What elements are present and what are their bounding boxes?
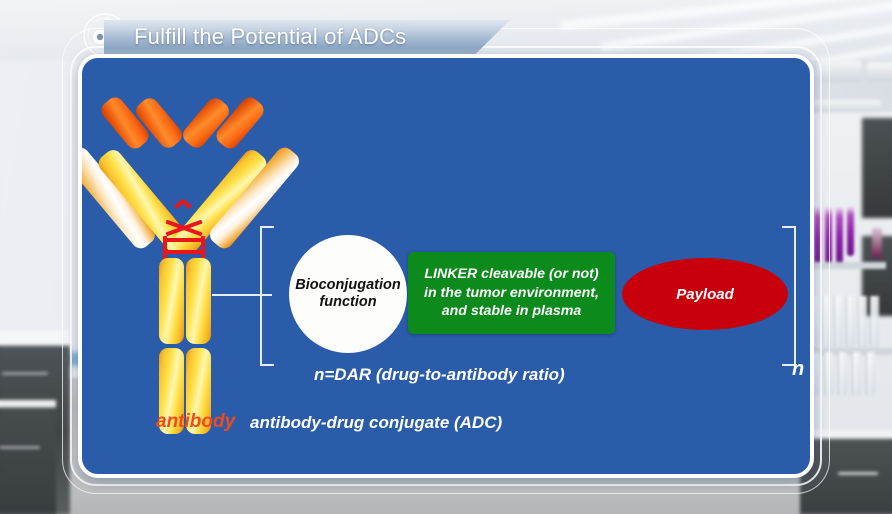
content-panel: antibody n Bioconjugation function LINKE… — [78, 54, 814, 478]
hinge-disulfide-bar-lower — [163, 250, 205, 254]
hinge-disulfide-bar-upper — [163, 238, 205, 242]
adc-bracket-left — [260, 226, 274, 366]
disulfide-bond-arm-right — [181, 199, 192, 209]
adc-caption: antibody-drug conjugate (ADC) — [250, 413, 502, 433]
linker-line-2: in the tumor environment, — [424, 284, 599, 302]
dar-caption: n=DAR (drug-to-antibody ratio) — [314, 365, 565, 385]
bioconjugation-line-2: function — [319, 294, 376, 311]
bracket-subscript-n: n — [792, 358, 804, 381]
slide-canvas: Fulfill the Potential of ADCs — [0, 0, 892, 514]
antibody-to-bracket-connector — [212, 294, 272, 296]
linker-box: LINKER cleavable (or not) in the tumor e… — [408, 252, 615, 334]
payload-node: Payload — [622, 258, 788, 330]
antibody-fc-ch2-left — [159, 258, 184, 344]
bioconjugation-line-1: Bioconjugation — [295, 277, 401, 294]
linker-line-3: and stable in plasma — [424, 302, 599, 320]
page-title: Fulfill the Potential of ADCs — [134, 24, 406, 50]
payload-label: Payload — [676, 286, 734, 303]
antibody-label: antibody — [156, 411, 235, 433]
linker-line-1: LINKER cleavable (or not) — [424, 265, 599, 283]
bioconjugation-node: Bioconjugation function — [289, 235, 407, 353]
antibody-fc-ch2-right — [186, 258, 211, 344]
